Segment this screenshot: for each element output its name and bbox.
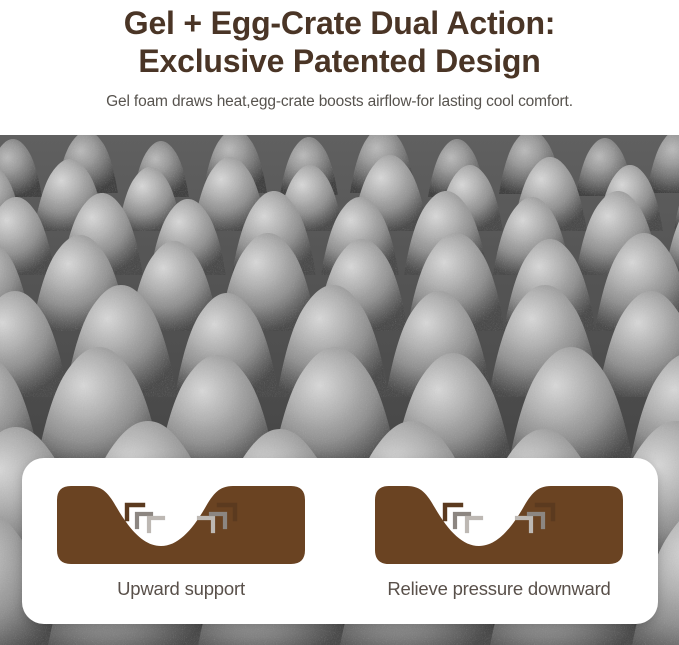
feature-panel-upward-support: Upward support (22, 458, 340, 624)
header-text-block: Gel + Egg-Crate Dual Action: Exclusive P… (0, 0, 679, 135)
arrow-up-left-light-icon (149, 518, 163, 531)
page-title: Gel + Egg-Crate Dual Action: Exclusive P… (0, 4, 679, 80)
feature-panel-relieve-pressure: Relieve pressure downward (340, 458, 658, 624)
feature-card: Upward support (22, 458, 658, 624)
page-title-line-2: Exclusive Patented Design (0, 42, 679, 80)
page-subtitle: Gel foam draws heat,egg-crate boosts air… (0, 92, 679, 112)
page-title-line-1: Gel + Egg-Crate Dual Action: (124, 5, 556, 41)
arrow-up-left-light-icon (467, 518, 481, 531)
foam-wave-shape-icon (45, 484, 317, 566)
feature-panel-label: Relieve pressure downward (387, 577, 610, 601)
wave-diagram-relieve-pressure (363, 484, 635, 566)
wave-diagram-upward-support (45, 484, 317, 566)
feature-panel-label: Upward support (117, 577, 245, 601)
product-feature-image: Gel + Egg-Crate Dual Action: Exclusive P… (0, 0, 679, 645)
foam-wave-shape-icon (363, 484, 635, 566)
